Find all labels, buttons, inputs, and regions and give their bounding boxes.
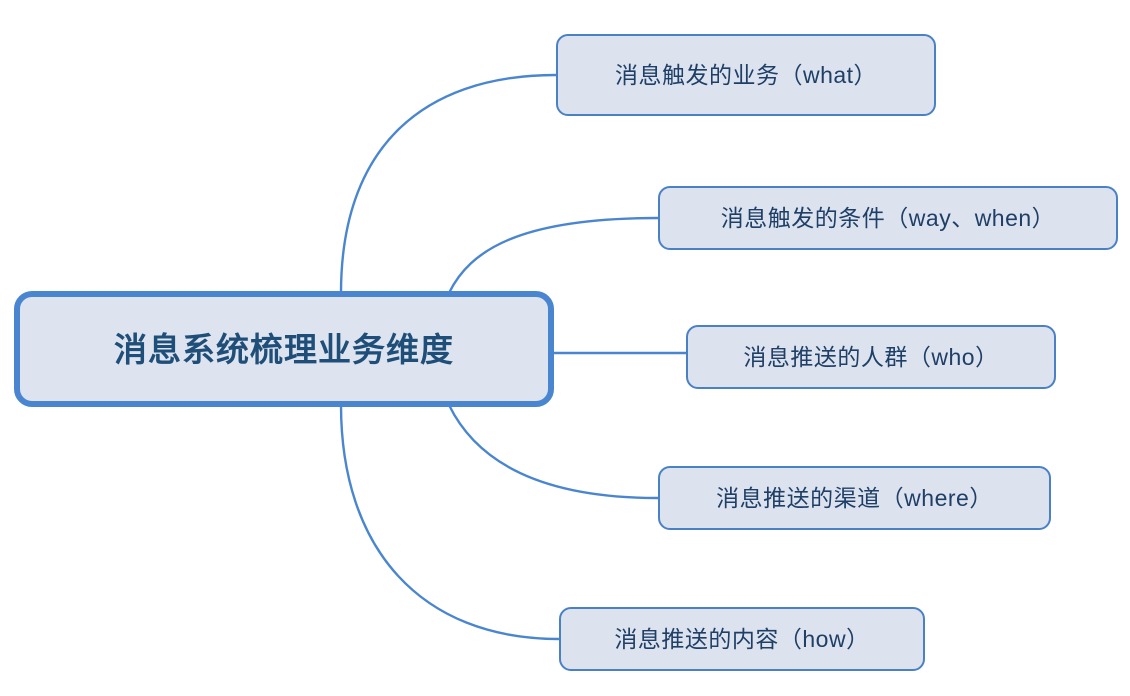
node-message-push-channel[interactable]: 消息推送的渠道（where） — [658, 466, 1051, 530]
connector-root-to-child-3 — [449, 405, 658, 498]
connector-root-to-child-1 — [449, 218, 658, 293]
mind-map-canvas: 消息系统梳理业务维度 消息触发的业务（what） 消息触发的条件（way、whe… — [0, 0, 1130, 696]
node-message-trigger-condition[interactable]: 消息触发的条件（way、when） — [658, 186, 1118, 250]
connector-root-to-child-4 — [341, 405, 559, 639]
node-message-push-content[interactable]: 消息推送的内容（how） — [559, 607, 925, 671]
root-node-label: 消息系统梳理业务维度 — [114, 333, 454, 366]
node-message-trigger-business[interactable]: 消息触发的业务（what） — [556, 34, 936, 116]
root-node[interactable]: 消息系统梳理业务维度 — [14, 291, 554, 407]
node-label: 消息推送的渠道（where） — [716, 487, 993, 510]
node-label: 消息触发的条件（way、when） — [721, 207, 1055, 230]
node-label: 消息推送的人群（who） — [743, 346, 998, 369]
node-label: 消息触发的业务（what） — [615, 64, 877, 87]
node-message-push-audience[interactable]: 消息推送的人群（who） — [686, 325, 1056, 389]
node-label: 消息推送的内容（how） — [614, 628, 869, 651]
connector-root-to-child-0 — [341, 75, 556, 293]
